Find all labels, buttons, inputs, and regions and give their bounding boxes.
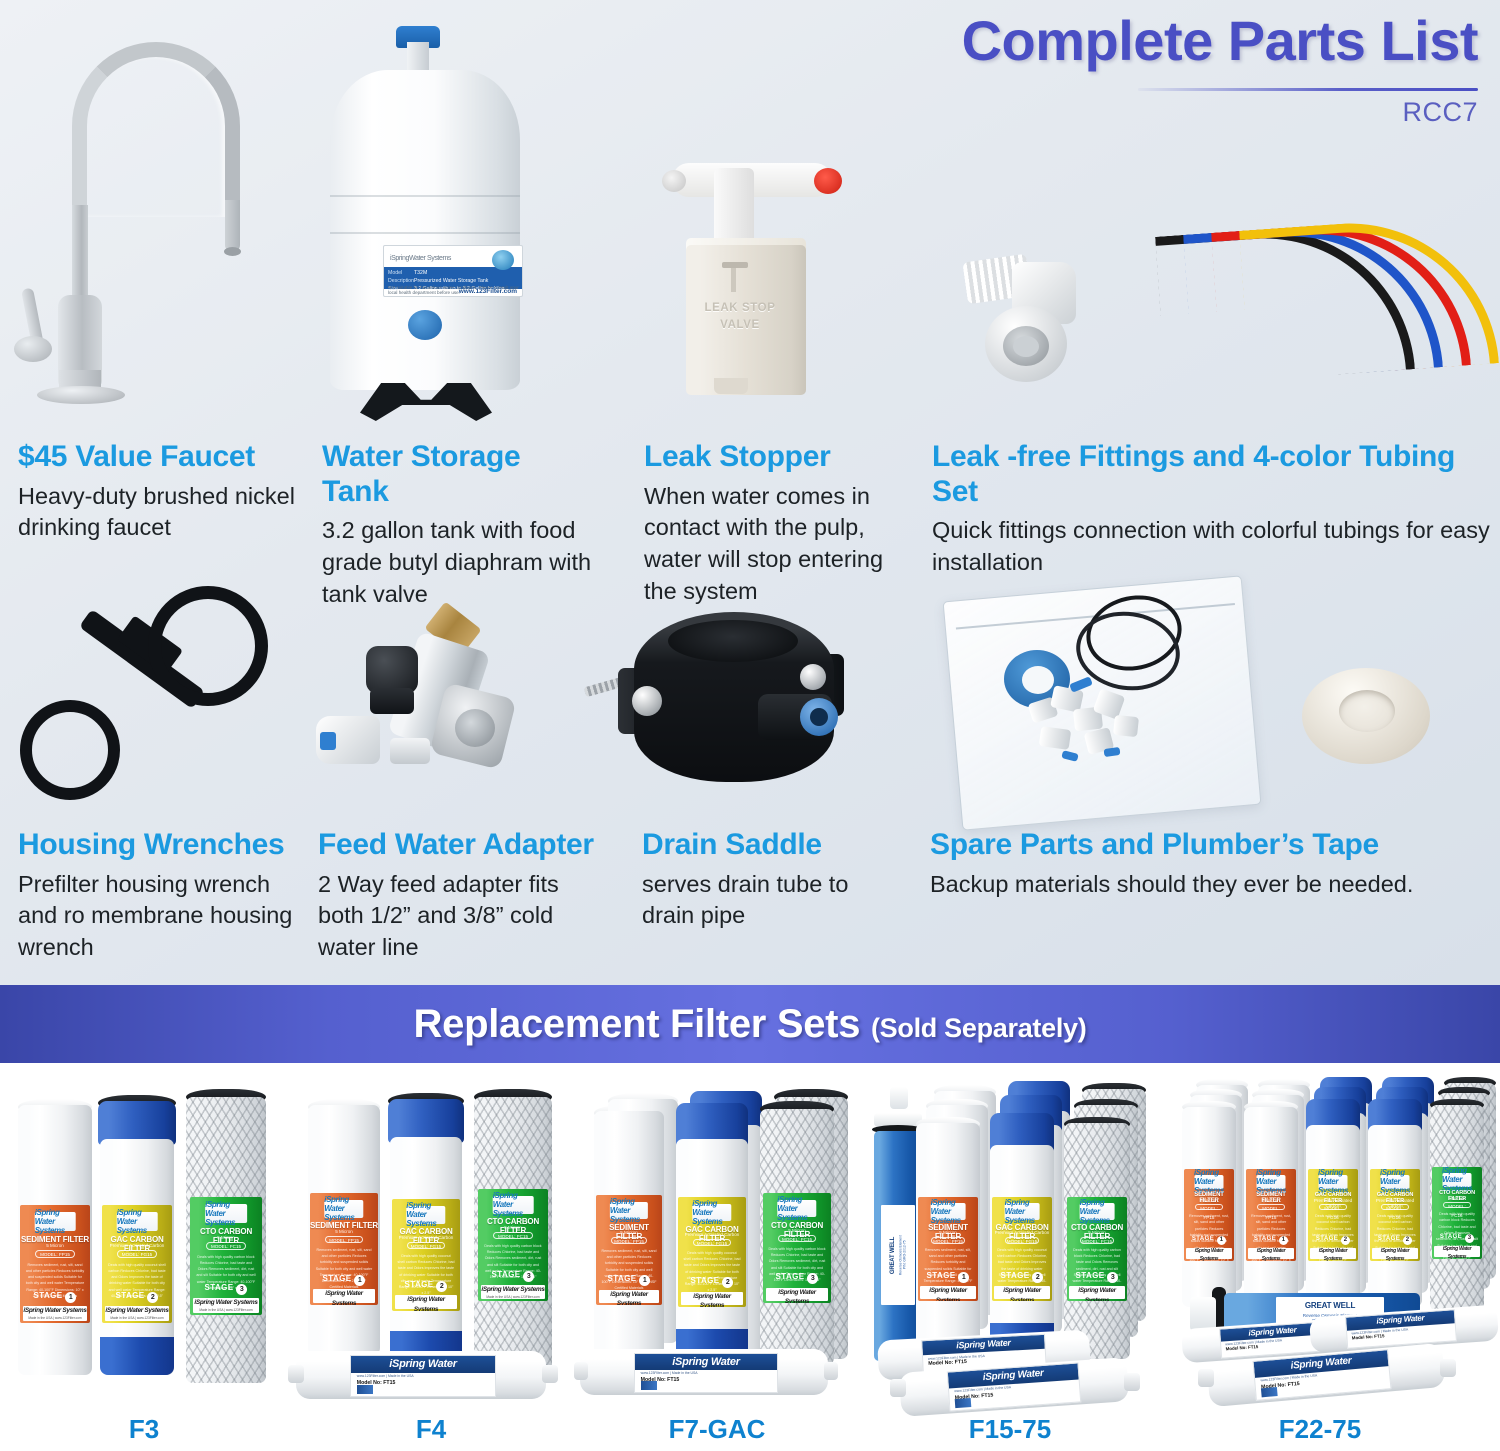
cartridge-stage: STAGE3 [478,1270,548,1282]
cartridge-model: MODEL: FG15 [1319,1204,1347,1210]
cartridge-stage: STAGE1 [310,1274,378,1286]
tank-label-brand: iSpringWater Systems [390,248,451,263]
gac-label: iSpring Water Systems GAC CARBON FILTER … [1308,1169,1358,1261]
ispring-logo-icon: iSpring Water Systems [1005,1203,1040,1220]
cartridge-cto: iSpring Water Systems CTO CARBON FILTER … [1430,1105,1484,1311]
cartridge-stage: STAGE2 [1308,1236,1358,1245]
membrane-model: P/N: GRO-2012-75 [903,1235,907,1275]
ispring-logo-icon: iSpring Water Systems [1195,1175,1224,1190]
cartridge-stage: STAGE2 [1370,1236,1420,1245]
membrane-permeate-tube [890,1087,908,1109]
logo-text: iSpring Water Systems [35,1208,76,1235]
cartridge-spec: Deals with high quality coconut shell ca… [997,1247,1047,1291]
cartridge-gac: iSpring Water Systems GAC CARBON FILTER … [990,1145,1054,1351]
leak-stopper-red-cap-icon [814,168,842,194]
cartridge-stage: STAGE3 [1067,1271,1127,1283]
leak-stopper-foot [714,378,748,394]
ispring-logo-icon: iSpring Water Systems [1319,1175,1348,1190]
cartridge-brand-footer: iSpring Water SystemsMade in the USA | w… [1186,1248,1232,1259]
spare-fitting [1039,726,1071,750]
faucet-spout [225,200,240,252]
caption-desc: Backup materials should they ever be nee… [930,869,1496,901]
adapter-elbow-blue-clip [320,732,336,750]
gac-label: iSpring Water Systems GAC CARBON FILTER … [678,1197,746,1307]
sediment-label: iSpring Water Systems SEDIMENT FILTER 5 … [20,1205,90,1323]
filter-set-f22-75[interactable]: iSpring Water Systems SEDIMENT FILTER 5 … [1160,1063,1500,1451]
gac-label: iSpring Water Systems GAC CARBON FILTER … [1370,1169,1420,1261]
cartridge-micron: 5 Micron [1184,1198,1234,1203]
cartridge-model: MODEL: FP15 [35,1250,74,1258]
logo-text: iSpring Water Systems [324,1195,363,1222]
cartridge-micron: 5 Micron [763,1228,831,1233]
caption-desc: 3.2 gallon tank with food grade butyl di… [322,515,594,611]
caption-title: $45 Value Faucet [18,440,298,475]
cartridge-model: MODEL: FP15 [325,1236,363,1244]
cartridge-sediment: iSpring Water Systems SEDIMENT FILTER 5 … [18,1105,92,1375]
caption-fittings-tubing: Leak -free Fittings and 4-color Tubing S… [932,440,1498,579]
inline-model: Model No: FT15 [1352,1333,1385,1340]
cartridge-brand-footer: iSpring Water SystemsMade in the USA | w… [481,1285,545,1298]
cartridge-model: MODEL: FP15 [1195,1204,1223,1210]
cartridge-brand-footer: iSpring Water SystemsMade in the USA | w… [1248,1248,1294,1259]
cartridge-micron: Premium Activated Carbon [102,1243,172,1248]
inline-filter-nipple-right [824,1362,838,1380]
cto-label: iSpring Water Systems CTO CARBON FILTER … [478,1189,548,1301]
cartridge-model: MODEL: FG15 [693,1239,731,1247]
membrane-brand: GREAT WELL [889,1235,899,1275]
caption-feed-water-adapter: Feed Water Adapter 2 Way feed adapter fi… [318,828,594,964]
cartridge-model: MODEL: FC15 [778,1235,816,1243]
ispring-logo-icon: iSpring Water Systems [1443,1173,1472,1188]
inline-filter-nipple-right [1440,1359,1456,1377]
ispring-logo-icon: iSpring Water Systems [931,1203,966,1220]
caption-title: Water Storage Tank [322,440,594,509]
caption-desc: Heavy-duty brushed nickel drinking fauce… [18,481,298,545]
caption-desc: serves drain tube to drain pipe [642,869,892,933]
inline-filter-nipple-left [890,1379,906,1397]
cartridge-stage: STAGE2 [392,1280,460,1292]
tape-roll-core [1339,690,1395,732]
membrane-label: GREAT WELL Reverse Osmosis Element P/N: … [881,1205,915,1305]
logo-text: iSpring Water Systems [931,1198,966,1225]
banner-title-main: Replacement Filter Sets [414,1002,861,1046]
cartridge-brand-footer: iSpring Water SystemsMade in the USA | w… [395,1295,458,1308]
cartridge-sediment: iSpring Water Systems SEDIMENT FILTER 5 … [594,1111,664,1355]
logo-text: iSpring Water Systems [1005,1198,1040,1225]
logo-text: iSpring Water Systems [777,1195,816,1222]
inline-barcode-icon [641,1381,657,1390]
caption-title: Spare Parts and Plumber’s Tape [930,828,1496,863]
cartridge-stage: STAGE2 [102,1291,172,1303]
ispring-logo-icon: iSpring Water Systems [1257,1175,1286,1190]
ispring-logo-icon: iSpring Water Systems [205,1204,247,1223]
cartridge-sediment: iSpring Water Systems SEDIMENT FILTER 5 … [1182,1107,1236,1307]
gac-label: iSpring Water Systems GAC CARBON FILTER … [392,1199,460,1311]
caption-desc: Quick fittings connection with colorful … [932,515,1498,579]
tank-body [330,70,520,390]
caption-housing-wrenches: Housing Wrenches Prefilter housing wrenc… [18,828,308,964]
ispring-logo-icon: iSpring Water Systems [610,1202,648,1220]
gac-label: iSpring Water Systems GAC CARBON FILTER … [102,1205,172,1323]
leak-stopper-pin [731,268,736,292]
caption-title: Leak -free Fittings and 4-color Tubing S… [932,440,1498,509]
sediment-label: iSpring Water Systems SEDIMENT FILTER 5 … [1246,1169,1296,1261]
tank-port [408,310,442,340]
cartridge-stage: STAGE1 [918,1271,978,1283]
banner-title-note: (Sold Separately) [871,1013,1086,1043]
sediment-label: iSpring Water Systems SEDIMENT FILTER 5 … [310,1193,378,1305]
cto-label: iSpring Water Systems CTO CARBON FILTER … [1067,1197,1127,1301]
cartridge-micron: 5 Micron [20,1243,90,1248]
faucet-handle-knob [14,336,52,362]
adapter-nut-bore [455,709,495,747]
cartridge-brand-footer: iSpring Water SystemsMade in the USA | w… [23,1306,87,1320]
caption-desc: 2 Way feed adapter fits both 1/2” and 3/… [318,869,594,965]
filter-set-label: F7-GAC [574,1414,860,1445]
filter-set-f3[interactable]: iSpring Water Systems SEDIMENT FILTER 5 … [0,1063,288,1451]
page-title: Complete Parts List [838,10,1478,72]
logo-text: iSpring Water Systems [406,1201,445,1228]
sediment-label: iSpring Water Systems SEDIMENT FILTER 5 … [1184,1169,1234,1261]
inline-model: Model No: FT15 [1225,1344,1258,1351]
ispring-logo-icon: iSpring Water Systems [1381,1175,1410,1190]
caption-drain-saddle: Drain Saddle serves drain tube to drain … [642,828,892,932]
cartridge-brand-footer: iSpring Water SystemsMade in the USA | w… [994,1286,1049,1298]
tank-label-url: www.123Filter.com [459,288,517,295]
cartridge-brand-footer: iSpring Water SystemsMade in the USA | w… [681,1292,744,1305]
header-divider [1138,88,1478,91]
filter-set-label: F4 [288,1414,574,1445]
gac-label: iSpring Water Systems GAC CARBON FILTER … [992,1197,1052,1301]
cartridge-micron: Premium Activated Carbon [392,1235,460,1240]
cartridge-stage: STAGE2 [678,1276,746,1288]
logo-text: iSpring Water Systems [205,1200,247,1227]
replacement-filter-sets-banner: Replacement Filter Sets (Sold Separately… [0,985,1500,1063]
cartridge-brand-footer: iSpring Water SystemsMade in the USA | w… [1434,1246,1480,1257]
cartridge-micron: 5 Micron [190,1235,262,1240]
cartridge-micron: 5 Micron [1067,1230,1127,1235]
caption-desc: When water comes in contact with the pul… [644,481,894,609]
sediment-label: iSpring Water Systems SEDIMENT FILTER 5 … [596,1195,662,1305]
ispring-logo-icon: iSpring Water Systems [777,1200,816,1218]
inline-filter-nipple-left [288,1365,304,1383]
cartridge-brand-footer: iSpring Water SystemsMade in the USA | w… [313,1289,376,1302]
cartridge-gac: iSpring Water Systems GAC CARBON FILTER … [1368,1125,1422,1307]
cto-label: iSpring Water Systems CTO CARBON FILTER … [190,1197,262,1315]
cartridge-micron: Premium Activated Carbon [992,1230,1052,1235]
cartridge-brand-footer: iSpring Water SystemsMade in the USA | w… [1310,1248,1356,1259]
model-number: RCC7 [838,97,1478,128]
tube-yellow [1239,213,1499,380]
header: Complete Parts List RCC7 [838,10,1478,128]
filter-set-f15-75[interactable]: GREAT WELL Reverse Osmosis Element P/N: … [860,1063,1160,1451]
cartridge-stage: STAGE3 [1432,1234,1482,1243]
cartridge-gac: iSpring Water Systems GAC CARBON FILTER … [390,1137,462,1365]
cartridge-brand-footer: iSpring Water SystemsMade in the USA | w… [920,1286,975,1298]
cto-label: iSpring Water Systems CTO CARBON FILTER … [763,1193,831,1303]
inline-filter-nipple-right [542,1365,558,1383]
inline-barcode-icon [1261,1387,1278,1397]
ispring-logo-icon: iSpring Water Systems [1080,1203,1115,1220]
cartridge-sediment: iSpring Water Systems SEDIMENT FILTER 5 … [308,1105,380,1355]
cartridge-model: MODEL: FC15 [493,1232,532,1240]
cartridge-brand-footer: iSpring Water SystemsMade in the USA | w… [1372,1248,1418,1259]
caption-title: Feed Water Adapter [318,828,594,863]
tank-brand-sub: Water Systems [409,255,451,262]
tank-brand-main: iSpring [390,255,409,262]
cartridge-micron: 5 Micron [596,1230,662,1235]
ro-membrane: GREAT WELL Reverse Osmosis Element P/N: … [874,1131,922,1361]
sediment-label: iSpring Water Systems SEDIMENT FILTER 5 … [918,1197,978,1301]
inline-filter-nipple-left [574,1362,588,1380]
cartridge-sediment: iSpring Water Systems SEDIMENT FILTER 5 … [1244,1107,1298,1307]
logo-text: iSpring Water Systems [692,1199,731,1226]
inline-brand: iSpring Water [351,1356,495,1373]
inline-sub: www.123Filter.com | Made in the USA [357,1374,414,1378]
cartridge-spec: Deals with high quality carbon block Red… [1072,1247,1122,1291]
ispring-logo-icon [492,250,514,270]
tank-seam-lower [330,232,520,234]
tank-spec-row: DescriptionPressurized Water Storage Tan… [388,277,522,285]
leak-stopper-left-port [662,170,686,192]
cartridge-model: MODEL: FG15 [1381,1204,1409,1210]
membrane-end-cap [1190,1297,1216,1331]
cartridge-model: MODEL: FG15 [117,1250,156,1258]
cartridge-model: MODEL: FC15 [1443,1202,1471,1208]
saddle-bore [668,620,798,662]
saddle-screw-right [800,664,826,690]
caption-leak-stopper: Leak Stopper When water comes in contact… [644,440,894,608]
cartridge-stage: STAGE3 [763,1272,831,1284]
cartridge-stage: STAGE1 [596,1274,662,1286]
caption-water-storage-tank: Water Storage Tank 3.2 gallon tank with … [322,440,594,611]
inline-filter-nipple-right [1124,1373,1140,1391]
gac-bottom-band [100,1337,174,1375]
cartridge-micron: 5 Micron [310,1229,378,1234]
adapter-outlet-stem [390,738,430,764]
caption-spare-parts: Spare Parts and Plumber’s Tape Backup ma… [930,828,1496,900]
cartridge-brand-footer: iSpring Water SystemsMade in the USA | w… [105,1306,169,1320]
cartridge-brand-footer: iSpring Water SystemsMade in the USA | w… [766,1288,829,1301]
cartridge-model: MODEL: FC15 [206,1242,246,1250]
tank-seam-upper [330,195,520,197]
inline-barcode-icon [955,1398,972,1408]
cartridge-stage: STAGE2 [992,1271,1052,1283]
cartridge-model: MODEL: FP15 [931,1237,965,1244]
ispring-logo-icon: iSpring Water Systems [324,1200,363,1218]
cartridge-brand-footer: iSpring Water SystemsMade in the USA | w… [599,1290,660,1303]
ispring-logo-icon: iSpring Water Systems [493,1196,534,1214]
inline-filter-label: iSpring Water www.123Filter.com | Made i… [634,1353,778,1393]
ptfe-tape-blue-core [1022,666,1054,694]
saddle-screw-left [632,686,662,716]
filter-set-f4[interactable]: iSpring Water Systems SEDIMENT FILTER 5 … [288,1063,574,1451]
cartridge-model: MODEL: FC15 [1080,1237,1114,1244]
membrane-brand: GREAT WELL [1276,1300,1384,1313]
wrench-large-ring [148,586,268,706]
cartridge-stage: STAGE1 [1184,1236,1234,1245]
cartridge-model: MODEL: FP15 [611,1237,648,1245]
saddle-port-bore [810,708,828,726]
cto-label: iSpring Water Systems CTO CARBON FILTER … [1432,1167,1482,1259]
ispring-logo-icon: iSpring Water Systems [692,1204,731,1222]
inline-barcode-icon [357,1385,373,1394]
filter-set-f7-gac[interactable]: iSpring Water Systems SEDIMENT FILTER 5 … [574,1063,860,1451]
filter-sets-row: iSpring Water Systems SEDIMENT FILTER 5 … [0,1063,1500,1451]
filter-set-label: F15-75 [860,1414,1160,1445]
cartridge-micron: 5 Micron [918,1230,978,1235]
inline-filter-nipple-left [1198,1369,1214,1387]
cartridge-gac: iSpring Water Systems GAC CARBON FILTER … [100,1139,174,1375]
cartridge-gac: iSpring Water Systems GAC CARBON FILTER … [1306,1125,1360,1307]
adapter-valve-knob [366,646,418,694]
cartridge-brand-footer: iSpring Water SystemsMade in the USA | w… [1069,1286,1124,1298]
inline-model: Model No: FT15 [928,1359,967,1367]
wrench-small-ring [20,700,120,800]
cartridge-micron: 5 Micron [1432,1196,1482,1201]
spare-fitting [1113,715,1139,737]
logo-text: iSpring Water Systems [117,1208,158,1235]
filter-set-label: F22-75 [1150,1414,1490,1445]
ispring-logo-icon: iSpring Water Systems [35,1212,76,1231]
cartridge-micron: 5 Micron [478,1225,548,1230]
caption-title: Drain Saddle [642,828,892,863]
cartridge-stage: STAGE1 [20,1291,90,1303]
inline-brand: iSpring Water [635,1354,777,1370]
filter-set-label: F3 [0,1414,288,1445]
logo-text: iSpring Water Systems [493,1191,534,1218]
logo-text: iSpring Water Systems [610,1197,648,1224]
cartridge-model: MODEL: FP15 [1257,1204,1285,1210]
caption-faucet: $45 Value Faucet Heavy-duty brushed nick… [18,440,298,544]
cartridge-micron: Premium Activated Carbon [678,1232,746,1237]
cartridge-brand-footer: iSpring Water SystemsMade in the USA | w… [193,1298,259,1312]
inline-sub: www.123Filter.com | Made in the USA [641,1371,698,1375]
cartridge-cto: iSpring Water Systems CTO CARBON FILTER … [1064,1123,1130,1359]
cartridge-stage: STAGE1 [1246,1236,1296,1245]
cartridge-micron: 5 Micron [1246,1198,1296,1203]
cartridge-cto: iSpring Water Systems CTO CARBON FILTER … [760,1109,834,1365]
membrane-label-text: GREAT WELL Reverse Osmosis Element P/N: … [889,1235,907,1275]
adapter-valve-stem [370,688,414,714]
caption-title: Leak Stopper [644,440,894,475]
ispring-logo-icon: iSpring Water Systems [117,1212,158,1231]
tank-label: iSpringWater Systems ModelT32M Descripti… [383,245,523,297]
parts-panel: Complete Parts List RCC7 iSpringWater Sy… [0,0,1500,985]
fitting-collar-bore [1013,336,1039,357]
logo-text: iSpring Water Systems [1080,1198,1115,1225]
cartridge-model: MODEL: FG15 [1005,1237,1039,1244]
tank-spec-row: ModelT32M [388,269,522,277]
faucet-base-flange [37,386,125,404]
faucet-gooseneck-arc [72,42,240,217]
caption-title: Housing Wrenches [18,828,308,863]
leak-stopper-emboss-text: LEAK STOP VALVE [692,300,788,333]
cartridge-cto: iSpring Water Systems CTO CARBON FILTER … [474,1097,552,1371]
cartridge-model: MODEL: FG15 [407,1242,445,1250]
cartridge-stage: STAGE3 [190,1283,262,1295]
cartridge-sediment: iSpring Water Systems SEDIMENT FILTER 5 … [916,1123,980,1351]
cartridge-cto: iSpring Water Systems CTO CARBON FILTER … [186,1097,266,1383]
banner-title: Replacement Filter Sets (Sold Separately… [414,1002,1087,1047]
inline-filter-label: iSpring Water www.123Filter.com | Made i… [350,1355,496,1397]
ispring-logo-icon: iSpring Water Systems [406,1206,445,1224]
caption-desc: Prefilter housing wrench and ro membrane… [18,869,308,965]
cartridge-gac: iSpring Water Systems GAC CARBON FILTER … [676,1139,748,1361]
